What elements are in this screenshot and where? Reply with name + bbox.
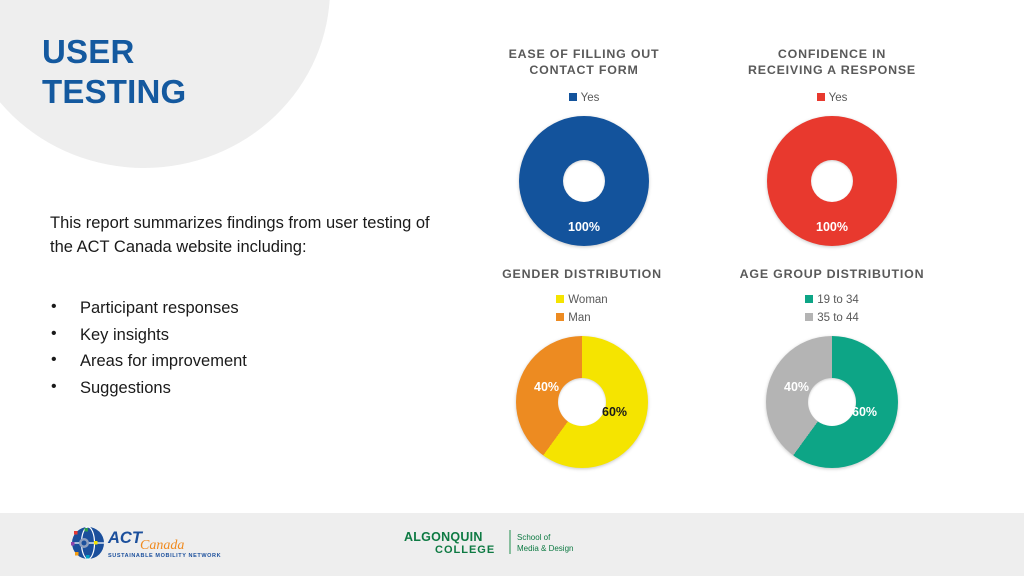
list-item-label: Suggestions [80,379,171,397]
page-title-line-1: USER [42,32,186,72]
chart-confidence-in-receiving-a-response: CONFIDENCE IN RECEIVING A RESPONSE Yes 1… [718,46,946,246]
list-item: • Participant responses [48,300,448,317]
legend-swatch-icon [556,295,564,303]
legend-label: Man [568,312,590,324]
legend-item: 35 to 44 [805,310,859,328]
bullet-dot-icon: • [51,299,57,315]
legend-label: 35 to 44 [817,312,859,324]
donut-hole [558,378,606,426]
page-title-line-2: TESTING [42,72,186,112]
list-item-label: Participant responses [80,299,239,317]
bullet-list: • Participant responses • Key insights •… [48,300,448,406]
legend-label: 19 to 34 [817,294,859,306]
legend-swatch-icon [817,93,825,101]
act-tagline: SUSTAINABLE MOBILITY NETWORK [108,553,221,559]
legend-swatch-icon [805,295,813,303]
donut-slice-label: 40% [784,381,809,394]
legend-swatch-icon [805,313,813,321]
chart-legend: Yes [817,90,848,108]
bullet-dot-icon: • [51,379,57,395]
legend-label: Yes [581,92,600,104]
donut-slice-label: 60% [602,406,627,419]
algonquin-college-logo: ALGONQUIN COLLEGE School of Media & Desi… [404,528,594,558]
donut-chart: 60% 40% [766,336,898,468]
list-item-label: Areas for improvement [80,352,247,370]
list-item: • Key insights [48,327,448,344]
algonquin-wordmark-line1: ALGONQUIN [404,530,483,544]
chart-legend: Yes [569,90,600,108]
algonquin-sub-line1: School of [517,533,551,542]
chart-ease-of-filling-out-contact-form: EASE OF FILLING OUT CONTACT FORM Yes 100… [470,46,698,246]
legend-label: Yes [829,92,848,104]
chart-title: CONFIDENCE IN RECEIVING A RESPONSE [718,46,946,78]
donut-slice-label: 40% [534,381,559,394]
legend-item: Woman [556,292,607,310]
list-item: • Suggestions [48,380,448,397]
chart-legend: Woman Man [556,292,607,328]
chart-legend: 19 to 34 35 to 44 [805,292,859,328]
donut-chart: 60% 40% [516,336,648,468]
page-title: USER TESTING [42,32,186,113]
chart-age-group-distribution: AGE GROUP DISTRIBUTION 19 to 34 35 to 44… [714,266,950,468]
intro-paragraph: This report summarizes findings from use… [50,212,450,260]
legend-item: 19 to 34 [805,292,859,310]
list-item-label: Key insights [80,326,169,344]
legend-item: Yes [817,90,848,108]
legend-label: Woman [568,294,607,306]
legend-swatch-icon [569,93,577,101]
donut-slice-label: 100% [816,221,848,234]
donut-ring [516,336,648,468]
legend-item: Man [556,310,607,328]
chart-title: GENDER DISTRIBUTION [466,266,698,282]
chart-title: AGE GROUP DISTRIBUTION [714,266,950,282]
bullet-dot-icon: • [51,326,57,342]
list-item: • Areas for improvement [48,353,448,370]
act-canada-logo: ACT Canada SUSTAINABLE MOBILITY NETWORK [64,523,224,565]
canada-wordmark: Canada [140,538,184,553]
bullet-dot-icon: • [51,352,57,368]
donut-chart: 100% [519,116,649,246]
donut-ring [766,336,898,468]
act-wordmark: ACT [107,529,144,547]
donut-chart: 100% [767,116,897,246]
algonquin-sub-line2: Media & Design [517,544,573,553]
chart-gender-distribution: GENDER DISTRIBUTION Woman Man 60% 40% [466,266,698,468]
legend-item: Yes [569,90,600,108]
legend-swatch-icon [556,313,564,321]
donut-hole [563,160,605,202]
algonquin-wordmark-line2: COLLEGE [435,544,495,556]
act-globe-icon [71,527,104,559]
donut-hole [811,160,853,202]
donut-slice-label: 60% [852,406,877,419]
donut-slice-label: 100% [568,221,600,234]
slide-canvas: USER TESTING This report summarizes find… [0,0,1024,576]
donut-hole [808,378,856,426]
chart-title: EASE OF FILLING OUT CONTACT FORM [470,46,698,78]
